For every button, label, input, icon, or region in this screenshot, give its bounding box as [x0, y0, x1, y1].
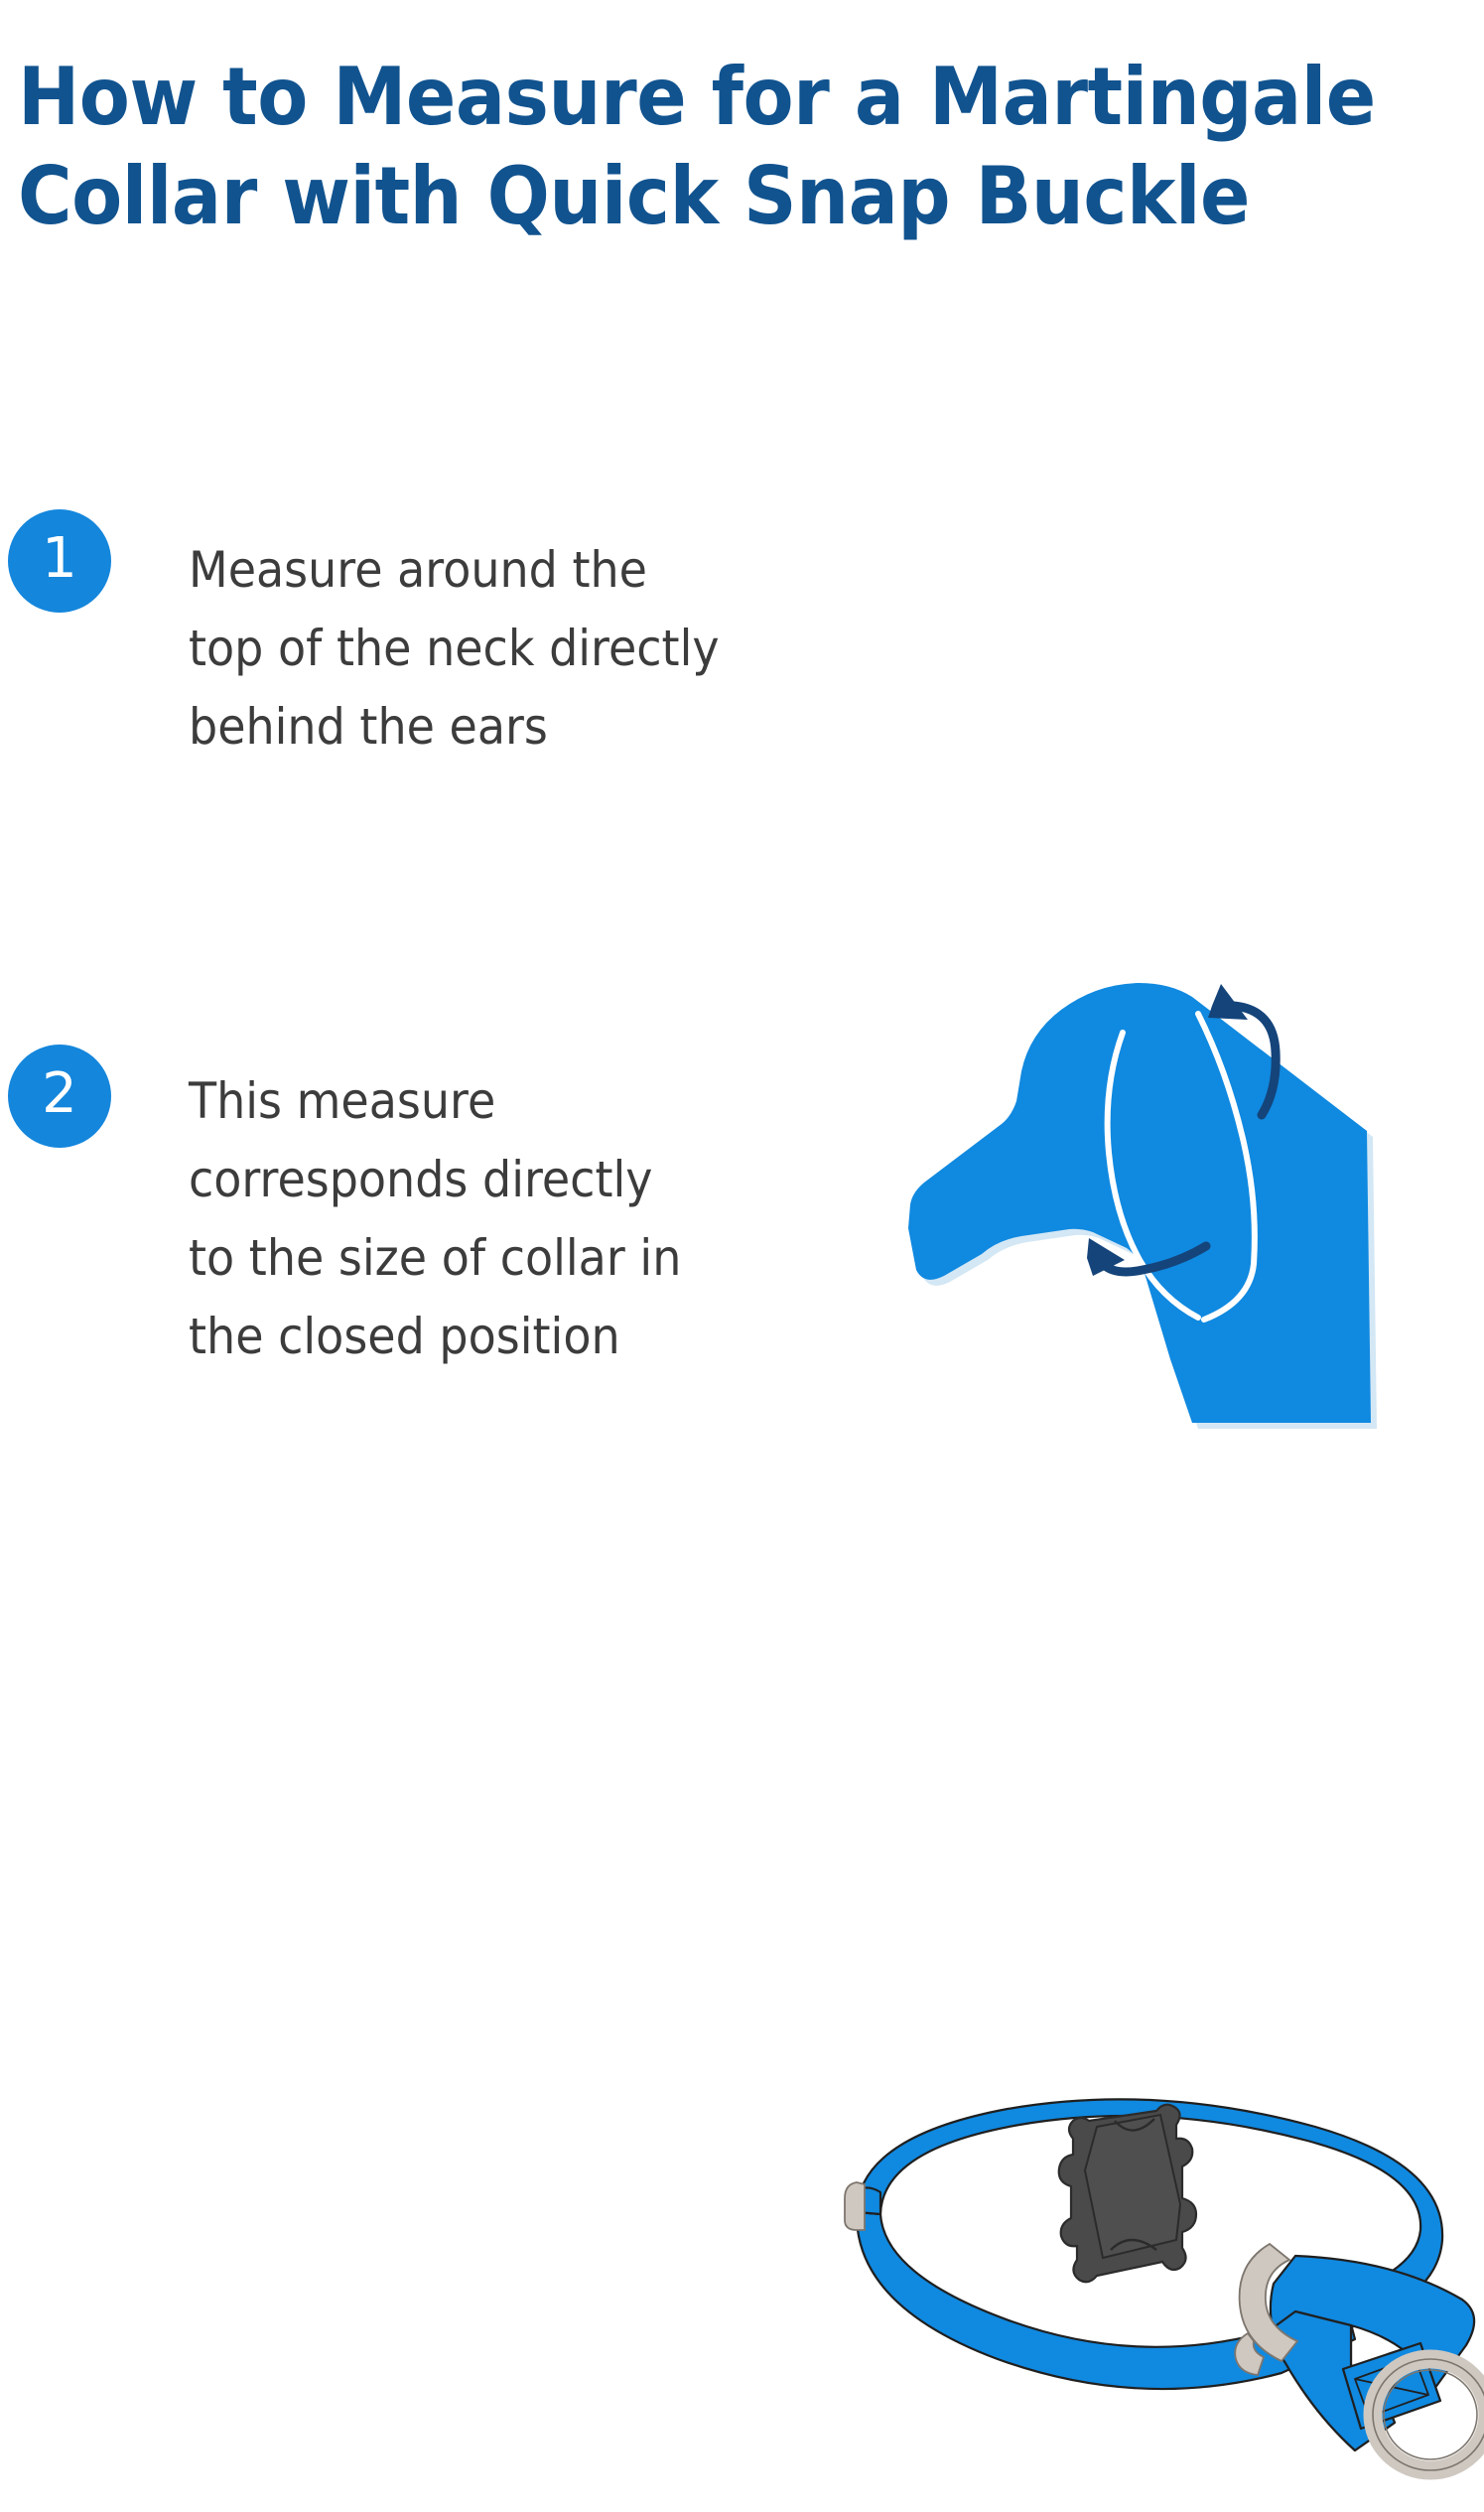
step-1-text-line-1: Measure around the [189, 531, 828, 610]
step-1-text-line-3: behind the ears [189, 688, 828, 767]
page-title-line-1: How to Measure for a Martingale [18, 48, 1347, 147]
step-1-number: 1 [42, 531, 77, 587]
measure-arrow-upper-head [1208, 984, 1248, 1020]
quick-snap-buckle [1059, 2105, 1196, 2283]
step-1-text: Measure around the top of the neck direc… [189, 531, 828, 767]
step-1: 1 Measure around the top of the neck dir… [0, 496, 1484, 993]
step-1-text-line-2: top of the neck directly [189, 610, 828, 688]
martingale-collar-illustration [799, 2045, 1484, 2512]
step-2-text-line-1: This measure [189, 1062, 828, 1141]
step-2-number: 2 [42, 1066, 77, 1122]
step-2-text-line-3: to the size of collar in [189, 1219, 828, 1298]
page-title-line-2: Collar with Quick Snap Buckle [18, 147, 1347, 246]
step-2-number-badge: 2 [8, 1045, 111, 1148]
buckle-body-face [1085, 2115, 1180, 2258]
collar-left-keeper-loop [845, 2182, 865, 2230]
step-1-number-badge: 1 [8, 509, 111, 613]
step-2-text-line-4: the closed position [189, 1298, 828, 1376]
page-title: How to Measure for a Martingale Collar w… [18, 48, 1447, 246]
step-2: 2 This measure corresponds directly to t… [0, 1033, 1484, 1469]
step-2-text: This measure corresponds directly to the… [189, 1062, 828, 1376]
step-2-text-line-2: corresponds directly [189, 1141, 828, 1219]
